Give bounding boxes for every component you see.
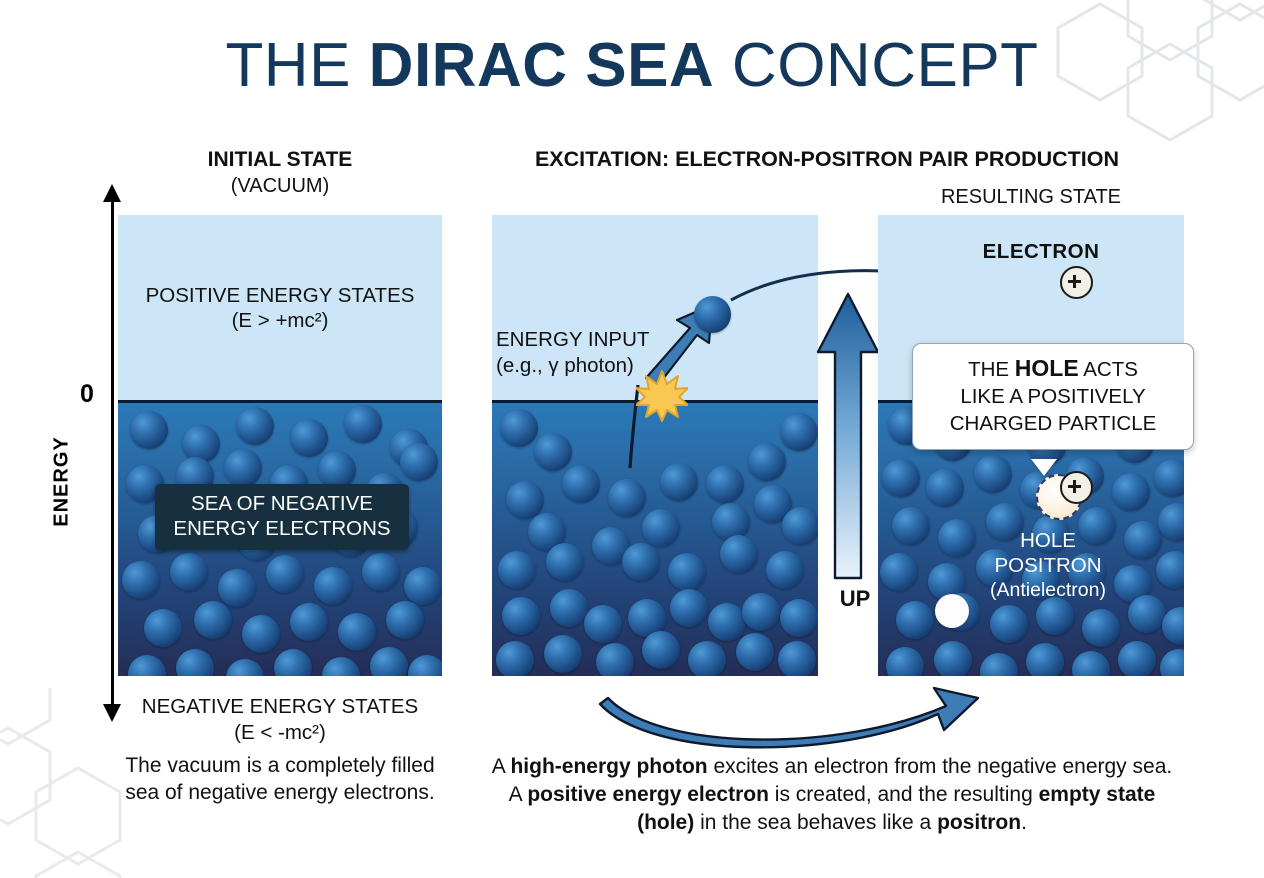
bc-l1-a: A: [492, 755, 511, 778]
electron-sphere: [344, 405, 382, 443]
energy-input-line1: ENERGY INPUT: [496, 327, 696, 353]
electron-sphere: [1160, 649, 1184, 676]
electron-sphere: [362, 553, 400, 591]
callout-line1-c: ACTS: [1079, 358, 1138, 381]
bc-l2-d: empty state: [1039, 783, 1156, 806]
hole-label-line2: POSITRON: [948, 553, 1148, 578]
plus-charge-icon-hole: [1060, 471, 1093, 504]
positive-states-label-line2: (E > +mc²): [118, 308, 442, 333]
electron-sphere: [550, 589, 588, 627]
electron-sphere: [980, 653, 1018, 676]
plus-charge-icon-electron: [1060, 266, 1093, 299]
middle-column-heading: EXCITATION: ELECTRON-POSITRON PAIR PRODU…: [470, 147, 1184, 172]
callout-line1: THE HOLE ACTS: [921, 355, 1185, 383]
callout-line3: CHARGED PARTICLE: [921, 410, 1185, 437]
electron-sphere: [1072, 651, 1110, 676]
electron-sphere: [194, 601, 232, 639]
electron-sphere: [782, 507, 818, 545]
electron-sphere: [338, 613, 376, 651]
electron-sphere: [766, 551, 804, 589]
hole-positron-label: HOLE POSITRON (Antielectron): [948, 528, 1148, 603]
bc-l2-c: is created, and the resulting: [769, 783, 1039, 806]
electron-sphere: [736, 633, 774, 671]
electron-sphere: [1082, 609, 1120, 647]
hole-callout-box: THE HOLE ACTS LIKE A POSITIVELY CHARGED …: [912, 343, 1194, 450]
electron-sphere: [882, 459, 920, 497]
electron-sphere: [314, 567, 352, 605]
callout-line1-a: THE: [968, 358, 1015, 381]
bc-l2-b: positive energy electron: [527, 783, 769, 806]
electron-sphere: [896, 601, 934, 639]
hole-label-line3: (Antielectron): [948, 578, 1148, 603]
electron-sphere: [892, 507, 930, 545]
left-caption-line1: The vacuum is a completely filled: [96, 752, 464, 779]
bottom-caption-line3: (hole) in the sea behaves like a positro…: [470, 809, 1194, 837]
electron-sphere: [706, 465, 744, 503]
electron-sphere: [660, 463, 698, 501]
hole-label-line1: HOLE: [948, 528, 1148, 553]
callout-line1-b: HOLE: [1015, 355, 1079, 381]
left-panel-caption: The vacuum is a completely filled sea of…: [96, 752, 464, 806]
electron-sphere: [404, 567, 442, 605]
electron-sphere: [562, 465, 600, 503]
infographic-canvas: THE DIRAC SEA CONCEPT INITIAL STATE (VAC…: [0, 0, 1264, 848]
electron-sphere: [144, 609, 182, 647]
electron-sphere: [1112, 473, 1150, 511]
curved-transition-arrow-icon: [600, 688, 978, 747]
electron-sphere: [778, 641, 816, 676]
electron-sphere: [176, 649, 214, 676]
negative-energy-sea-middle: [492, 403, 818, 676]
electron-sphere: [668, 553, 706, 591]
electron-sphere: [780, 413, 818, 451]
electron-sphere: [974, 455, 1012, 493]
negative-states-label: NEGATIVE ENERGY STATES (E < -mc²): [118, 694, 442, 746]
bc-l3-b: in the sea behaves like a: [694, 811, 937, 834]
electron-sphere: [218, 569, 256, 607]
electron-sphere: [742, 593, 780, 631]
negative-states-line1: NEGATIVE ENERGY STATES: [118, 694, 442, 720]
electron-sphere: [720, 535, 758, 573]
panel-excitation: [492, 215, 818, 676]
sea-label-line2: ENERGY ELECTRONS: [165, 516, 399, 541]
title-part-1: THE: [225, 31, 368, 100]
electron-sphere: [708, 603, 746, 641]
excited-electron-sphere: [694, 296, 731, 333]
big-up-arrow-icon: [818, 294, 878, 578]
electron-sphere: [534, 433, 572, 471]
electron-sphere: [546, 543, 584, 581]
page-title: THE DIRAC SEA CONCEPT: [0, 32, 1264, 100]
electron-sphere: [498, 551, 536, 589]
bottom-caption-line2: A positive energy electron is created, a…: [470, 781, 1194, 809]
electron-sphere: [642, 509, 680, 547]
electron-sphere: [670, 589, 708, 627]
title-part-3: CONCEPT: [714, 31, 1038, 100]
bc-l3-c: positron: [937, 811, 1021, 834]
electron-sphere: [584, 605, 622, 643]
electron-sphere: [236, 407, 274, 445]
electron-sphere: [1154, 459, 1184, 497]
left-caption-line2: sea of negative energy electrons.: [96, 779, 464, 806]
energy-input-label: ENERGY INPUT (e.g., γ photon): [496, 327, 696, 379]
electron-sphere: [506, 481, 544, 519]
sea-label-line1: SEA OF NEGATIVE: [165, 491, 399, 516]
electron-sphere: [408, 655, 442, 676]
sea-of-negative-energy-electrons-label: SEA OF NEGATIVE ENERGY ELECTRONS: [155, 484, 409, 550]
bc-l3-d: .: [1021, 811, 1027, 834]
right-column-heading: RESULTING STATE: [878, 185, 1184, 209]
electron-sphere: [1118, 641, 1156, 676]
callout-line2: LIKE A POSITIVELY: [921, 383, 1185, 410]
electron-sphere: [926, 469, 964, 507]
electron-sphere: [688, 641, 726, 676]
electron-sphere: [934, 641, 972, 676]
electron-sphere: [266, 555, 304, 593]
electron-sphere: [122, 561, 160, 599]
electron-sphere: [496, 641, 534, 676]
left-column-subheading: (VACUUM): [118, 174, 442, 199]
bottom-caption-line1: A high-energy photon excites an electron…: [470, 753, 1194, 781]
electron-sphere: [242, 615, 280, 653]
electron-sphere: [502, 597, 540, 635]
electron-sphere: [1156, 551, 1184, 589]
electron-label: ELECTRON: [938, 240, 1144, 264]
electron-sphere: [544, 635, 582, 673]
electron-sphere: [622, 543, 660, 581]
axis-zero-tick: 0: [80, 380, 94, 409]
electron-sphere: [880, 553, 918, 591]
electron-sphere: [1026, 643, 1064, 676]
electron-sphere: [400, 443, 438, 481]
electron-sphere: [170, 553, 208, 591]
bottom-caption: A high-energy photon excites an electron…: [470, 753, 1194, 837]
electron-sphere: [1158, 503, 1184, 541]
electron-sphere: [748, 443, 786, 481]
title-part-2: DIRAC SEA: [369, 31, 715, 100]
electron-sphere: [990, 605, 1028, 643]
left-column-heading: INITIAL STATE: [118, 147, 442, 172]
electron-sphere: [224, 449, 262, 487]
electron-sphere: [608, 479, 646, 517]
positive-states-label-line1: POSITIVE ENERGY STATES: [118, 283, 442, 308]
electron-sphere: [642, 631, 680, 669]
electron-sphere: [322, 657, 360, 676]
bc-l3-a: (hole): [637, 811, 694, 834]
electron-sphere: [128, 655, 166, 676]
bc-l2-a: A: [509, 783, 528, 806]
electron-sphere: [386, 601, 424, 639]
callout-pointer-tail: [1031, 459, 1057, 476]
axis-label-energy: ENERGY: [51, 412, 74, 552]
electron-sphere: [274, 649, 312, 676]
electron-sphere: [130, 411, 168, 449]
bc-l1-c: excites an electron from the negative en…: [708, 755, 1173, 778]
bc-l1-b: high-energy photon: [510, 755, 707, 778]
electron-sphere: [370, 647, 408, 676]
electron-sphere: [290, 419, 328, 457]
electron-sphere: [500, 409, 538, 447]
electron-sphere: [226, 659, 264, 676]
electron-sphere: [290, 603, 328, 641]
electron-sphere: [886, 647, 924, 676]
energy-input-line2: (e.g., γ photon): [496, 353, 696, 379]
electron-sphere: [596, 643, 634, 676]
energy-axis-line: [111, 198, 114, 718]
panel-initial-state: POSITIVE ENERGY STATES (E > +mc²): [118, 215, 442, 676]
negative-states-line2: (E < -mc²): [118, 720, 442, 746]
